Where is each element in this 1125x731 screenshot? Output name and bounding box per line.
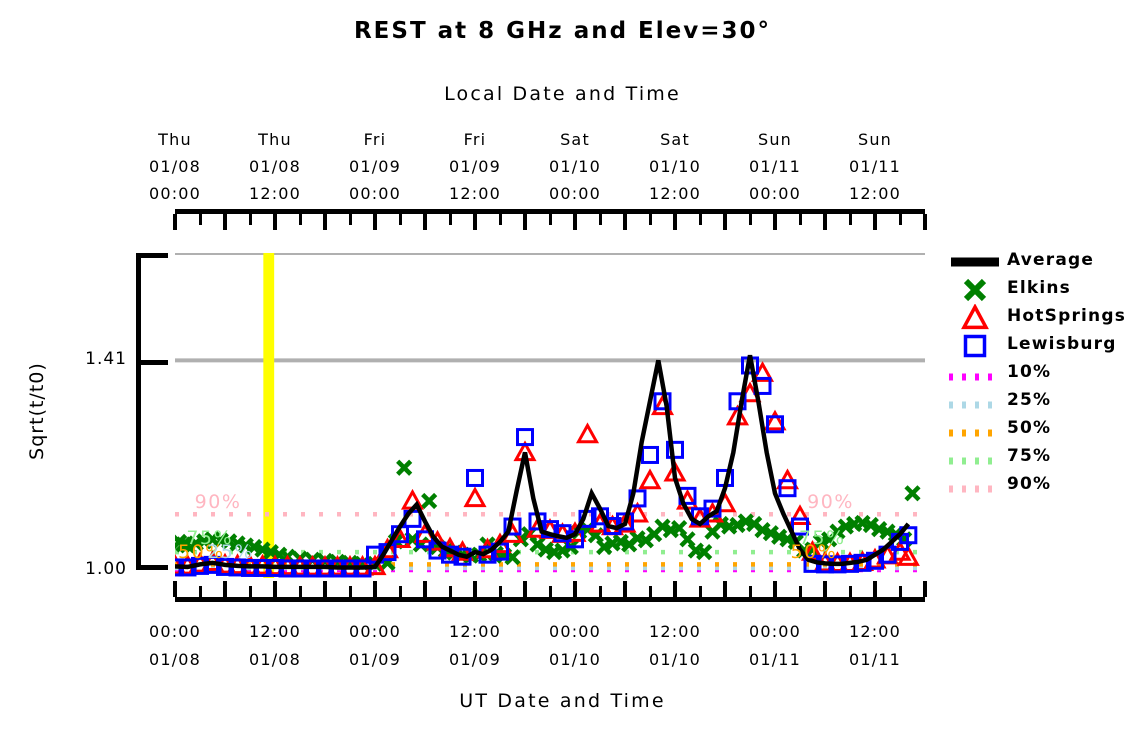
percentile-inline-label: 25% xyxy=(207,541,254,563)
bottom-axis-tick xyxy=(773,581,777,597)
y-axis-tick xyxy=(136,253,168,258)
legend-symbol-dotted-icon xyxy=(945,360,1003,388)
top-axis-tick xyxy=(723,214,727,230)
y-tick-label: 1.00 xyxy=(57,559,127,579)
bottom-axis-tick xyxy=(723,581,727,597)
top-axis-tick xyxy=(749,214,752,225)
legend-label: 75% xyxy=(1007,446,1051,466)
legend-symbol-dotted-icon xyxy=(945,416,1003,444)
bottom-axis-tick xyxy=(349,586,352,597)
bottom-axis-tick xyxy=(899,586,902,597)
bottom-axis-time-label: 12:00 xyxy=(420,622,530,641)
bottom-axis-date-label: 01/11 xyxy=(720,650,830,669)
top-axis-tick xyxy=(899,214,902,225)
top-axis-tick xyxy=(299,214,302,225)
top-axis-tick xyxy=(573,214,577,230)
legend-symbol-line-icon xyxy=(945,248,1003,276)
bottom-axis-tick xyxy=(749,586,752,597)
top-axis-date-label: 01/08 xyxy=(220,157,330,176)
bottom-axis-tick xyxy=(299,586,302,597)
legend-item-10pct[interactable]: 10% xyxy=(945,360,1125,388)
y-axis-label: Sqrt(t/t0) xyxy=(26,326,48,496)
legend-item-elkins[interactable]: Elkins xyxy=(945,276,1125,304)
top-axis-time-label: 12:00 xyxy=(620,184,730,203)
bottom-axis-tick xyxy=(673,581,677,597)
legend-symbol-dotted-icon xyxy=(945,388,1003,416)
top-axis-tick xyxy=(773,214,777,230)
bottom-axis-time-label: 00:00 xyxy=(320,622,430,641)
top-axis-time-label: 12:00 xyxy=(820,184,930,203)
data-point xyxy=(906,487,919,500)
top-axis-tick xyxy=(173,214,177,230)
legend-symbol-triangle-icon xyxy=(945,304,1003,332)
legend-label: HotSprings xyxy=(1007,306,1125,326)
bottom-axis-line xyxy=(175,597,925,602)
bottom-axis-tick xyxy=(523,581,527,597)
y-axis-tick xyxy=(136,360,168,365)
bottom-axis-tick xyxy=(823,581,827,597)
bottom-axis-tick xyxy=(449,586,452,597)
top-axis-tick xyxy=(823,214,827,230)
top-axis-title: Local Date and Time xyxy=(0,83,1125,105)
legend-item-75pct[interactable]: 75% xyxy=(945,444,1125,472)
bottom-axis-time-label: 12:00 xyxy=(820,622,930,641)
top-axis-tick xyxy=(873,214,877,230)
bottom-axis-tick xyxy=(223,581,227,597)
page-title: REST at 8 GHz and Elev=30° xyxy=(0,18,1125,44)
legend-label: 50% xyxy=(1007,418,1051,438)
top-axis-time-label: 00:00 xyxy=(320,184,430,203)
top-axis-tick xyxy=(399,214,402,225)
bottom-axis-tick xyxy=(623,581,627,597)
top-axis-tick xyxy=(673,214,677,230)
bottom-axis-tick xyxy=(599,586,602,597)
legend-symbol-square-icon xyxy=(945,332,1003,360)
top-axis-tick xyxy=(699,214,702,225)
data-point xyxy=(468,470,483,485)
top-axis-tick xyxy=(223,214,227,230)
top-axis-day-label: Fri xyxy=(420,130,530,149)
top-axis-tick xyxy=(273,214,277,230)
bottom-axis-time-label: 00:00 xyxy=(520,622,630,641)
legend-label: Average xyxy=(1007,250,1094,270)
bottom-axis-tick xyxy=(649,586,652,597)
bottom-axis-tick xyxy=(499,586,502,597)
top-axis-tick xyxy=(649,214,652,225)
legend-item-90pct[interactable]: 90% xyxy=(945,472,1125,500)
top-axis-tick xyxy=(249,214,252,225)
top-axis-tick xyxy=(199,214,202,225)
top-axis-day-label: Fri xyxy=(320,130,430,149)
top-axis-day-label: Sat xyxy=(520,130,630,149)
bottom-axis-tick xyxy=(423,581,427,597)
legend-label: 90% xyxy=(1007,474,1051,494)
top-axis-tick xyxy=(499,214,502,225)
top-axis-day-label: Thu xyxy=(220,130,330,149)
data-point xyxy=(579,426,597,442)
top-axis-day-label: Sun xyxy=(820,130,930,149)
legend-label: Elkins xyxy=(1007,278,1071,298)
y-tick-label: 1.41 xyxy=(57,349,127,369)
top-axis-tick xyxy=(623,214,627,230)
data-point xyxy=(466,489,484,505)
bottom-axis-tick xyxy=(273,581,277,597)
bottom-axis-tick xyxy=(399,586,402,597)
bottom-axis-tick xyxy=(373,581,377,597)
chart-legend: AverageElkinsHotSpringsLewisburg10%25%50… xyxy=(945,248,1125,500)
legend-item-hotsprings[interactable]: HotSprings xyxy=(945,304,1125,332)
bottom-axis-date-label: 01/09 xyxy=(420,650,530,669)
top-axis-day-label: Thu xyxy=(120,130,230,149)
bottom-axis-tick xyxy=(573,581,577,597)
top-axis-time-label: 00:00 xyxy=(120,184,230,203)
bottom-axis-date-label: 01/10 xyxy=(620,650,730,669)
data-point xyxy=(641,472,659,488)
bottom-axis-tick xyxy=(199,586,202,597)
bottom-axis-time-label: 12:00 xyxy=(620,622,730,641)
top-axis-tick xyxy=(523,214,527,230)
top-axis-tick xyxy=(923,214,927,230)
bottom-axis-date-label: 01/10 xyxy=(520,650,630,669)
bottom-axis-tick xyxy=(323,581,327,597)
bottom-axis-tick xyxy=(849,586,852,597)
top-axis-date-label: 01/10 xyxy=(620,157,730,176)
legend-item-lewisburg[interactable]: Lewisburg xyxy=(945,332,1125,360)
legend-label: Lewisburg xyxy=(1007,334,1117,354)
top-axis-time-label: 12:00 xyxy=(420,184,530,203)
percentile-inline-label: 50% xyxy=(791,541,838,563)
current-time-marker xyxy=(263,253,274,578)
top-axis-tick xyxy=(323,214,327,230)
top-axis-tick xyxy=(473,214,477,230)
top-axis-day-label: Sun xyxy=(720,130,830,149)
top-axis-date-label: 01/08 xyxy=(120,157,230,176)
bottom-axis-date-label: 01/08 xyxy=(120,650,230,669)
legend-item-25pct[interactable]: 25% xyxy=(945,388,1125,416)
bottom-axis-tick xyxy=(799,586,802,597)
legend-symbol-x-icon xyxy=(945,276,1003,304)
top-axis-tick xyxy=(599,214,602,225)
top-axis-tick xyxy=(799,214,802,225)
legend-item-average[interactable]: Average xyxy=(945,248,1125,276)
bottom-axis-date-label: 01/11 xyxy=(820,650,930,669)
top-axis-time-label: 12:00 xyxy=(220,184,330,203)
top-axis-tick xyxy=(373,214,377,230)
top-axis-time-label: 00:00 xyxy=(520,184,630,203)
y-axis-tick xyxy=(136,565,168,570)
top-axis-date-label: 01/09 xyxy=(420,157,530,176)
bottom-axis-tick xyxy=(699,586,702,597)
top-axis-tick xyxy=(349,214,352,225)
top-axis-date-label: 01/09 xyxy=(320,157,430,176)
legend-label: 10% xyxy=(1007,362,1051,382)
bottom-axis-date-label: 01/09 xyxy=(320,650,430,669)
bottom-axis-tick xyxy=(923,581,927,597)
legend-item-50pct[interactable]: 50% xyxy=(945,416,1125,444)
top-axis-time-label: 00:00 xyxy=(720,184,830,203)
bottom-axis-tick xyxy=(249,586,252,597)
plot-area xyxy=(175,253,925,570)
top-axis-date-label: 01/11 xyxy=(820,157,930,176)
bottom-axis-time-label: 00:00 xyxy=(720,622,830,641)
y-axis-line xyxy=(136,253,141,570)
data-point xyxy=(423,494,436,507)
top-axis-date-label: 01/11 xyxy=(720,157,830,176)
data-point xyxy=(398,461,411,474)
top-axis-tick xyxy=(849,214,852,225)
top-axis-tick xyxy=(449,214,452,225)
top-axis-day-label: Sat xyxy=(620,130,730,149)
percentile-inline-label: 90% xyxy=(807,491,854,513)
bottom-axis-date-label: 01/08 xyxy=(220,650,330,669)
bottom-axis-tick xyxy=(873,581,877,597)
bottom-axis-tick xyxy=(549,586,552,597)
top-axis-date-label: 01/10 xyxy=(520,157,630,176)
top-axis-tick xyxy=(423,214,427,230)
percentile-inline-label: 90% xyxy=(195,491,242,513)
chart-figure: REST at 8 GHz and Elev=30° Local Date an… xyxy=(0,0,1125,731)
bottom-axis-tick xyxy=(173,581,177,597)
legend-label: 25% xyxy=(1007,390,1051,410)
bottom-axis-time-label: 00:00 xyxy=(120,622,230,641)
bottom-axis-title: UT Date and Time xyxy=(0,690,1125,712)
bottom-axis-time-label: 12:00 xyxy=(220,622,330,641)
legend-symbol-dotted-icon xyxy=(945,472,1003,500)
top-axis-tick xyxy=(549,214,552,225)
data-point xyxy=(643,447,658,462)
legend-symbol-dotted-icon xyxy=(945,444,1003,472)
bottom-axis-tick xyxy=(473,581,477,597)
